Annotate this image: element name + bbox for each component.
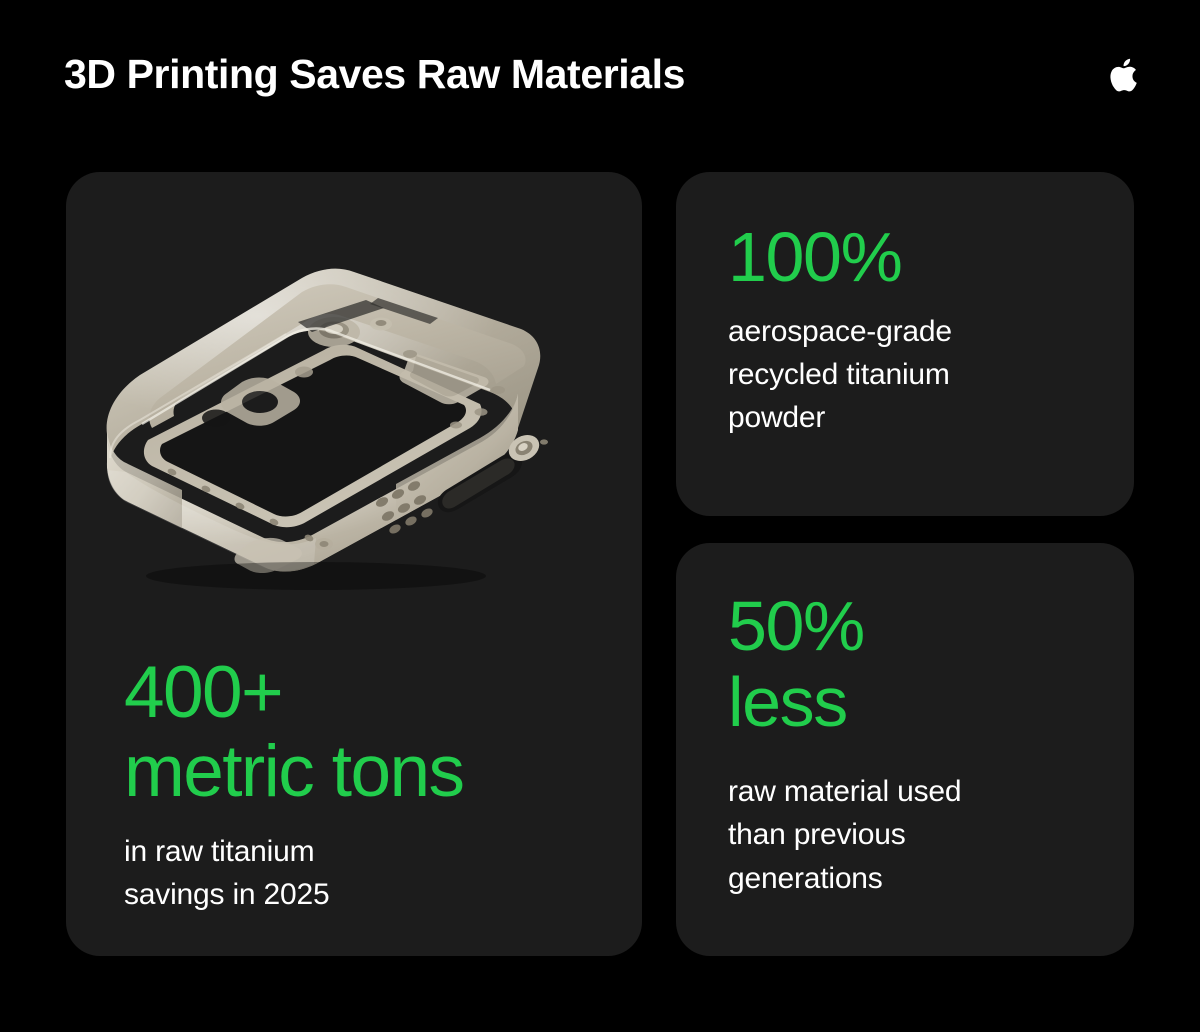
hero-stat-block: 400+ metric tons in raw titanium savings… [66, 654, 642, 916]
bottom-right-stat-description-line-2: than previous [728, 813, 1134, 856]
infographic-page: 3D Printing Saves Raw Materials [0, 0, 1200, 1032]
top-right-stat-value: 100% [728, 220, 1134, 296]
top-right-stat-value-line-1: 100% [728, 220, 1134, 296]
card-less-raw-material: 50% less raw material used than previous… [676, 543, 1134, 956]
top-right-stat-description-line-1: aerospace-grade [728, 310, 1134, 353]
hero-stat-description-line-2: savings in 2025 [124, 873, 642, 916]
top-right-stat-block: 100% aerospace-grade recycled titanium p… [676, 172, 1134, 439]
top-right-stat-description-line-3: powder [728, 396, 1134, 439]
bottom-right-stat-description: raw material used than previous generati… [728, 770, 1134, 900]
hero-stat-value-line-1: 400+ [124, 654, 642, 733]
top-right-stat-description-line-2: recycled titanium [728, 353, 1134, 396]
card-raw-titanium-savings: 400+ metric tons in raw titanium savings… [66, 172, 642, 956]
titanium-watch-case-image [66, 172, 642, 592]
card-recycled-titanium-powder: 100% aerospace-grade recycled titanium p… [676, 172, 1134, 516]
hero-stat-description-line-1: in raw titanium [124, 830, 642, 873]
bottom-right-stat-value-line-2: less [728, 665, 1134, 741]
top-right-stat-description: aerospace-grade recycled titanium powder [728, 310, 1134, 440]
bottom-right-stat-description-line-1: raw material used [728, 770, 1134, 813]
hero-stat-description: in raw titanium savings in 2025 [124, 830, 642, 916]
apple-logo-icon [1106, 56, 1138, 94]
bottom-right-stat-block: 50% less raw material used than previous… [676, 543, 1134, 900]
hero-stat-value-line-2: metric tons [124, 733, 642, 812]
hero-stat-value: 400+ metric tons [124, 654, 642, 812]
page-header: 3D Printing Saves Raw Materials [0, 0, 1200, 150]
bottom-right-stat-value: 50% less [728, 589, 1134, 740]
bottom-right-stat-value-line-1: 50% [728, 589, 1134, 665]
page-title: 3D Printing Saves Raw Materials [64, 53, 685, 96]
stat-card-grid: 400+ metric tons in raw titanium savings… [66, 172, 1134, 956]
bottom-right-stat-description-line-3: generations [728, 857, 1134, 900]
